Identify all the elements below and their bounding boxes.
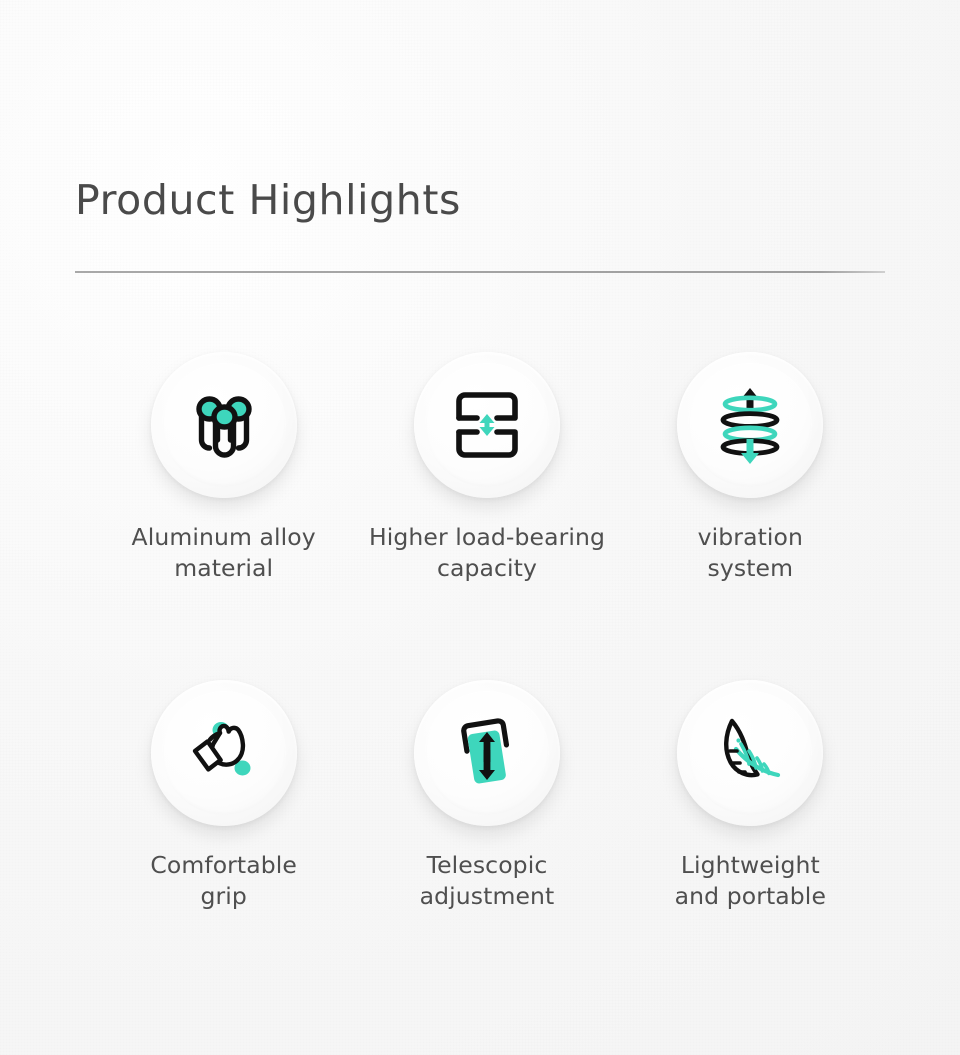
feature-caption: Lightweight and portable [675,850,826,912]
feature-item-load-bearing: Higher load-bearing capacity [355,352,618,584]
page-title: Product Highlights [75,178,885,223]
grip-hand-icon [182,711,266,795]
page-header: Product Highlights [75,178,885,273]
feature-grid: Aluminum alloy material Higher load-bear… [92,352,882,912]
feather-icon [708,713,792,793]
feature-caption: Telescopic adjustment [420,850,555,912]
feature-item-telescopic: Telescopic adjustment [355,680,618,912]
header-divider [75,271,885,273]
feature-caption: Higher load-bearing capacity [369,522,605,584]
feature-item-aluminum-alloy: Aluminum alloy material [92,352,355,584]
feature-caption: vibration system [698,522,803,584]
feature-item-comfortable-grip: Comfortable grip [92,680,355,912]
load-bearing-icon [447,385,527,465]
feature-caption: Comfortable grip [150,850,297,912]
telescopic-icon [446,710,528,796]
feature-icon-badge [414,352,560,498]
vibration-icon [710,382,790,468]
aluminum-tubes-icon [181,382,267,468]
feature-icon-badge [677,680,823,826]
feature-caption: Aluminum alloy material [132,522,316,584]
feature-icon-badge [414,680,560,826]
feature-icon-badge [151,352,297,498]
feature-item-vibration: vibration system [619,352,882,584]
feature-icon-badge [677,352,823,498]
feature-icon-badge [151,680,297,826]
feature-item-lightweight: Lightweight and portable [619,680,882,912]
